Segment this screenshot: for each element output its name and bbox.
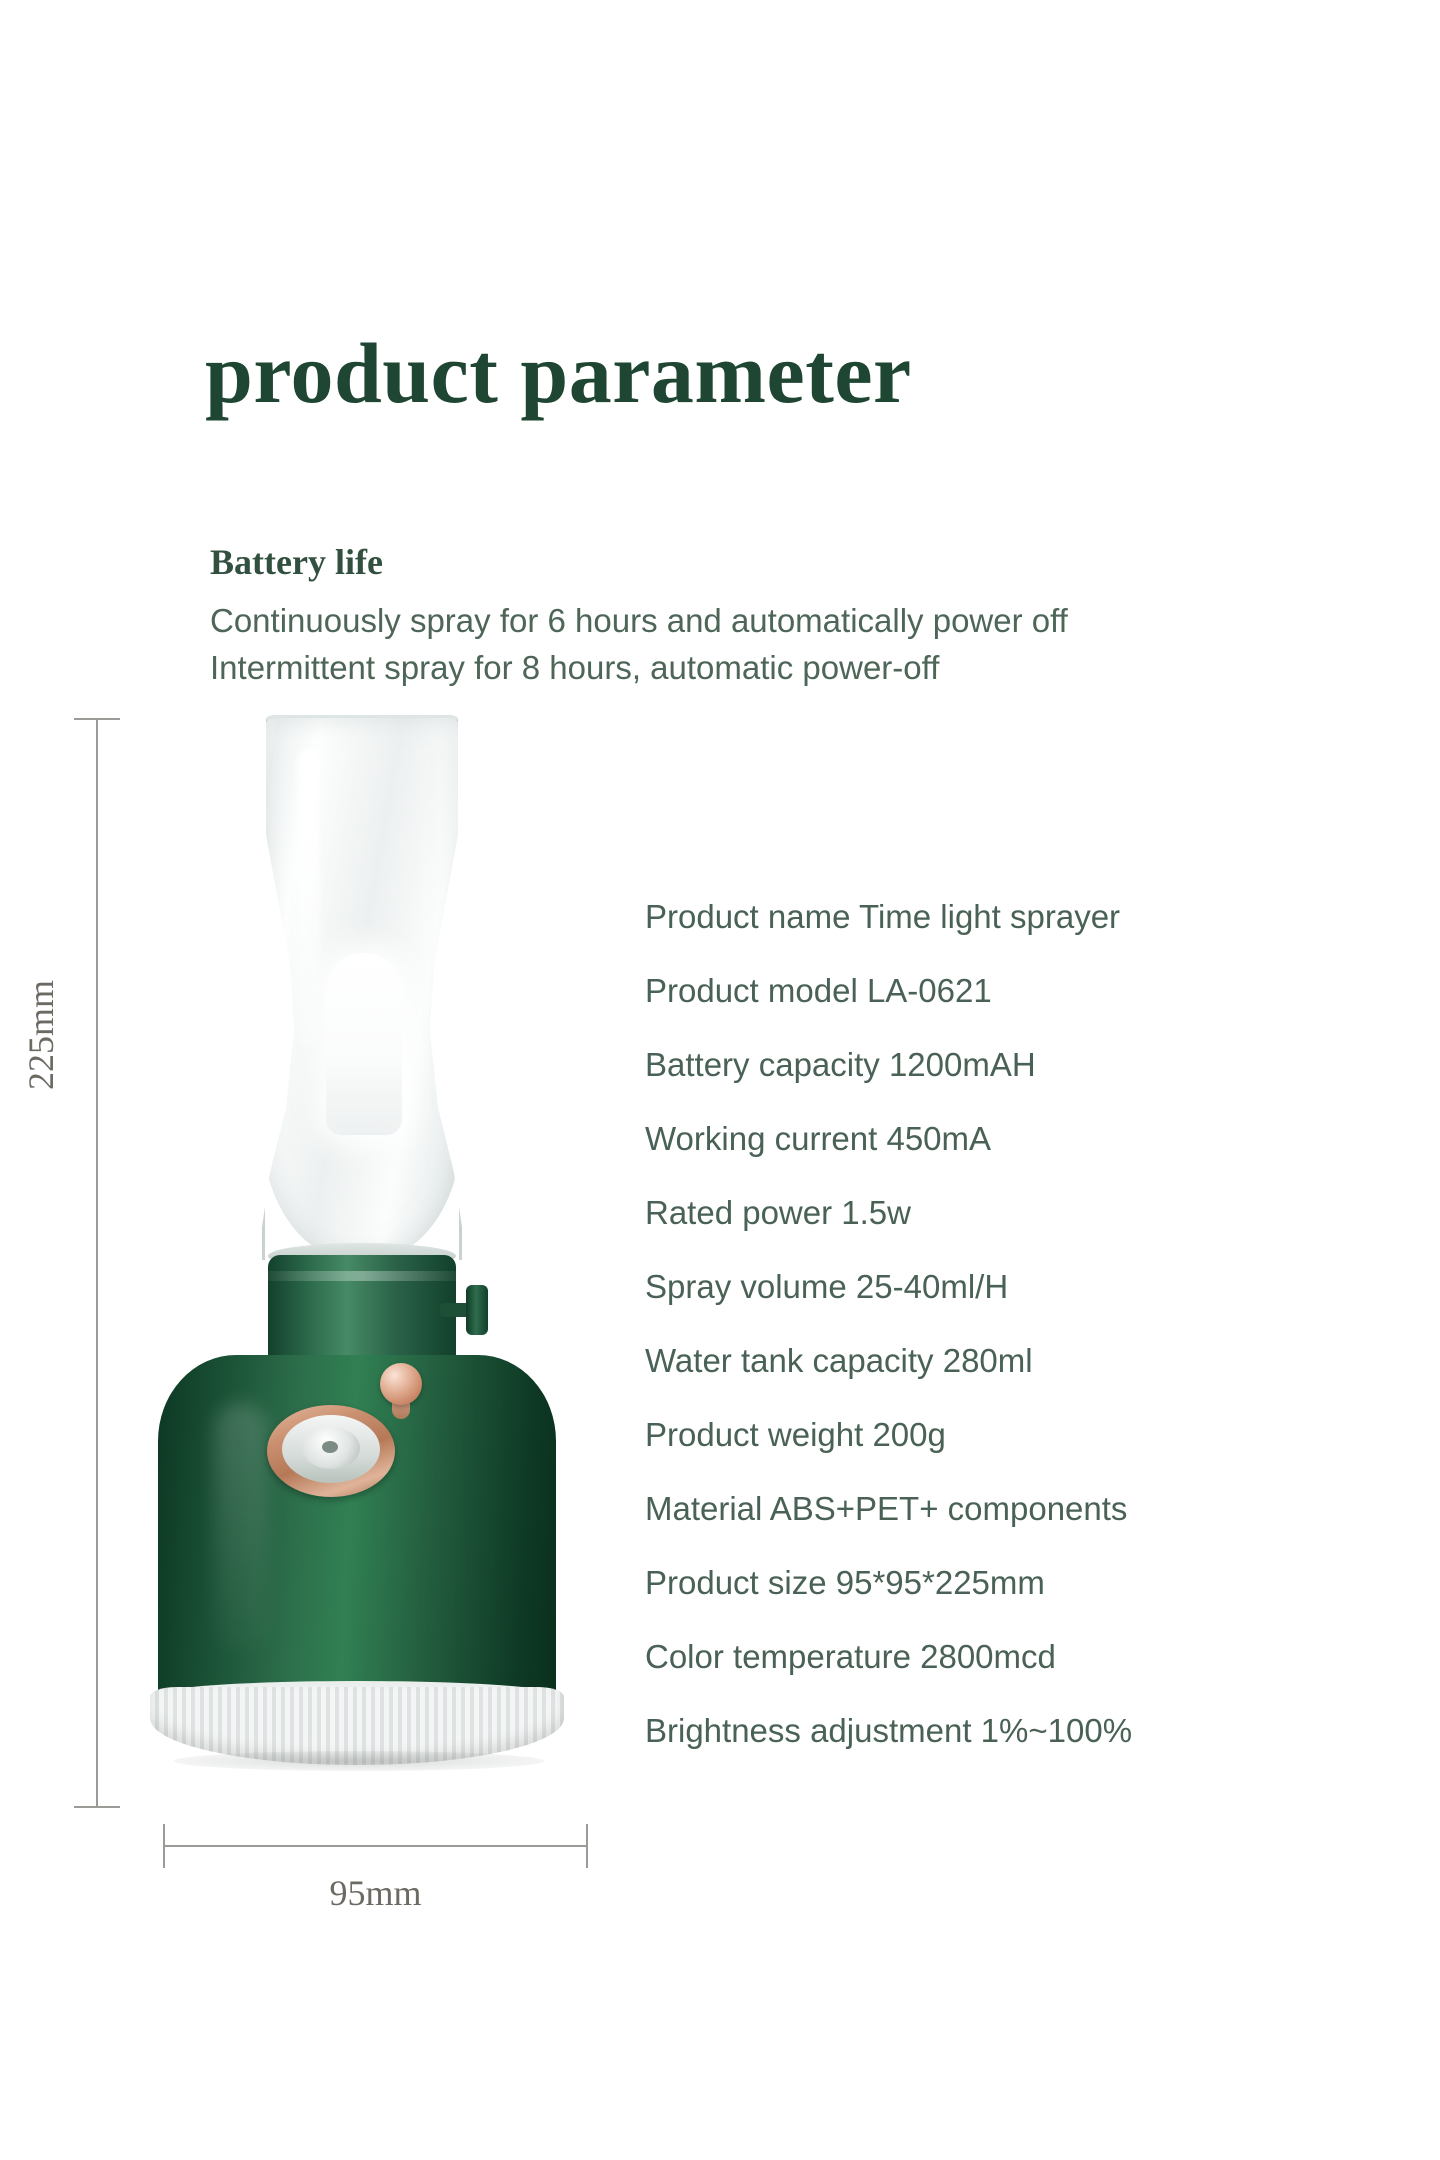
- product-parameter-page: product parameter Battery life Continuou…: [0, 0, 1440, 2160]
- spec-item-spray-volume: Spray volume 25-40ml/H: [645, 1250, 1345, 1324]
- spec-item-product-size: Product size 95*95*225mm: [645, 1546, 1345, 1620]
- spec-item-water-tank-capacity: Water tank capacity 280ml: [645, 1324, 1345, 1398]
- specification-list: Product name Time light sprayer Product …: [645, 880, 1345, 1768]
- battery-life-description: Continuously spray for 6 hours and autom…: [210, 597, 1390, 691]
- height-dimension-line: [96, 718, 98, 1808]
- base-shadow: [174, 1751, 544, 1771]
- battery-life-heading: Battery life: [210, 543, 383, 583]
- spec-item-product-weight: Product weight 200g: [645, 1398, 1345, 1472]
- battery-life-line: Continuously spray for 6 hours and autom…: [210, 597, 1390, 644]
- glass-highlight: [298, 749, 320, 1049]
- power-button-sphere: [380, 1363, 422, 1405]
- lamp-light-core: [326, 953, 402, 1135]
- spec-item-color-temperature: Color temperature 2800mcd: [645, 1620, 1345, 1694]
- spec-item-material: Material ABS+PET+ components: [645, 1472, 1345, 1546]
- battery-life-line: Intermittent spray for 8 hours, automati…: [210, 644, 1390, 691]
- spec-item-brightness: Brightness adjustment 1%~100%: [645, 1694, 1345, 1768]
- height-dimension-tick-top: [74, 718, 120, 720]
- height-dimension-label: 225mm: [20, 980, 62, 1090]
- wick-knob: [466, 1285, 488, 1335]
- width-dimension-line: [163, 1845, 588, 1847]
- product-image: [140, 715, 610, 1825]
- width-dimension-tick-left: [163, 1824, 165, 1868]
- control-dial-center-dot: [322, 1441, 338, 1453]
- collar-band: [268, 1271, 456, 1281]
- spec-item-product-name: Product name Time light sprayer: [645, 880, 1345, 954]
- spec-item-product-model: Product model LA-0621: [645, 954, 1345, 1028]
- width-dimension-tick-right: [586, 1824, 588, 1868]
- page-title: product parameter: [205, 330, 912, 416]
- height-dimension-tick-bottom: [74, 1806, 120, 1808]
- spec-item-battery-capacity: Battery capacity 1200mAH: [645, 1028, 1345, 1102]
- spec-item-rated-power: Rated power 1.5w: [645, 1176, 1345, 1250]
- tank-highlight: [214, 1403, 268, 1653]
- spec-item-working-current: Working current 450mA: [645, 1102, 1345, 1176]
- width-dimension-label: 95mm: [163, 1872, 588, 1914]
